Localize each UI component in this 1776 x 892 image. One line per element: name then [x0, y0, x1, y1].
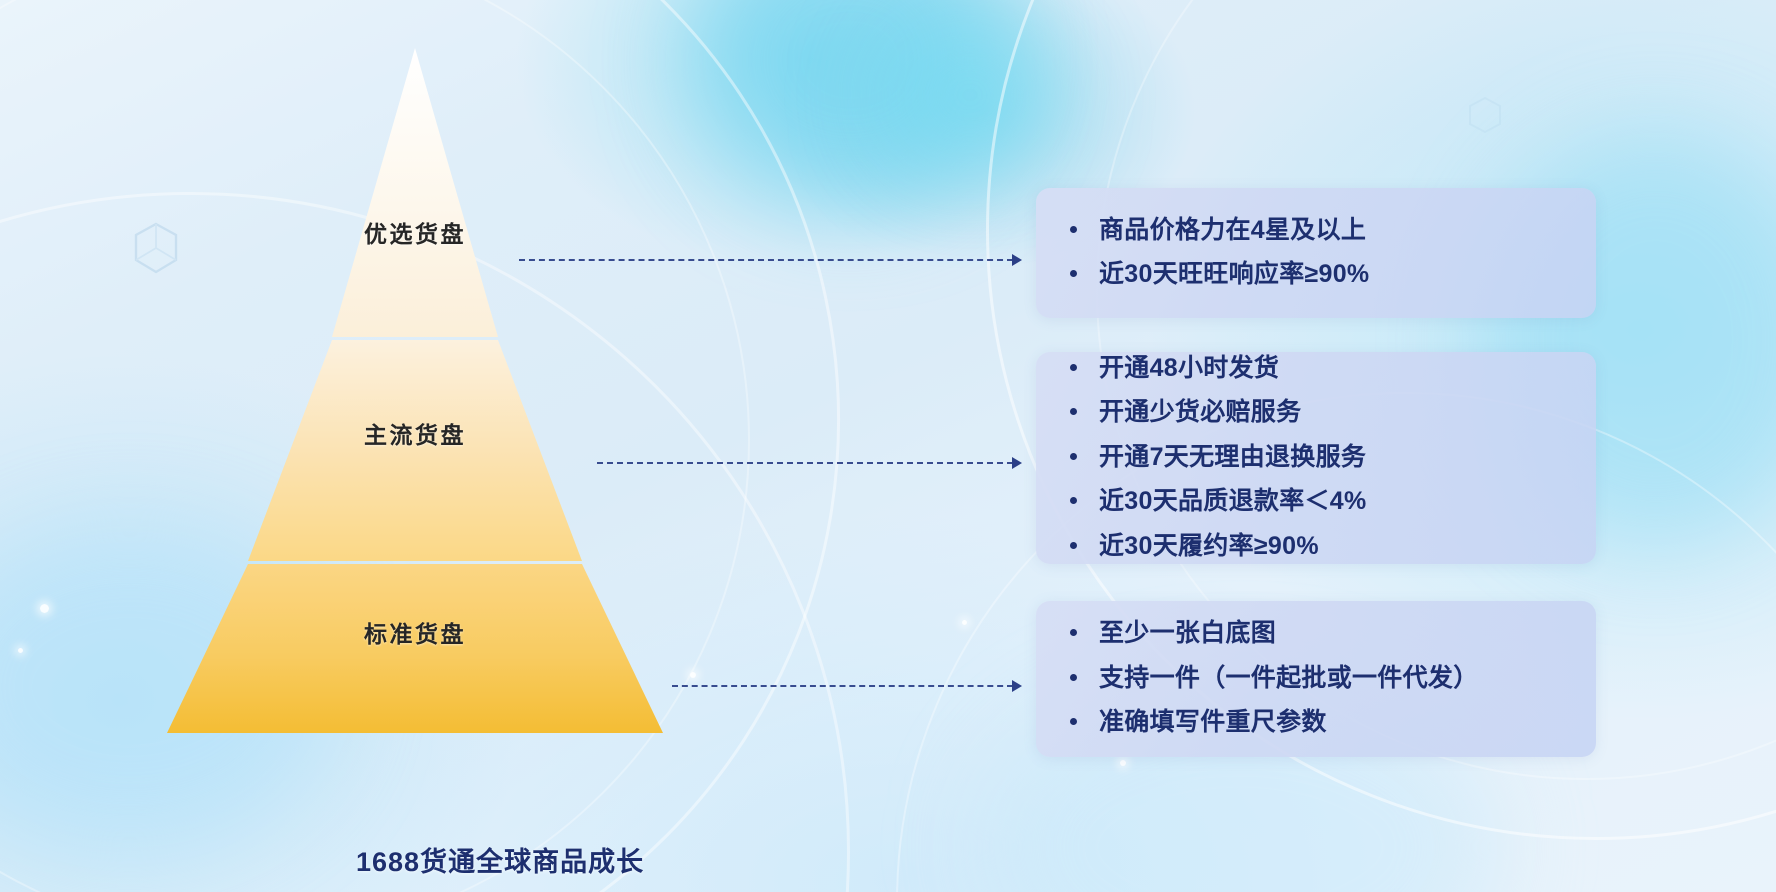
requirement-item: 准确填写件重尺参数	[1066, 705, 1570, 740]
arrow-icon	[1012, 680, 1022, 692]
requirement-text: 至少一张白底图	[1099, 616, 1276, 651]
requirement-item: 开通48小时发货	[1066, 351, 1570, 386]
requirement-text: 准确填写件重尺参数	[1099, 705, 1327, 740]
background-glow	[880, 20, 1060, 170]
bullet-icon	[1070, 629, 1077, 636]
requirement-text: 商品价格力在4星及以上	[1099, 213, 1366, 248]
requirement-item: 近30天品质退款率＜4%	[1066, 484, 1570, 519]
pyramid-tier-1[interactable]	[248, 340, 582, 561]
sparkle-dot	[1120, 760, 1126, 766]
pyramid-tier-label-1: 主流货盘	[364, 416, 466, 450]
bullet-icon	[1070, 408, 1077, 415]
pyramid-tier-label-0: 优选货盘	[364, 215, 466, 249]
requirement-text: 支持一件（一件起批或一件代发）	[1099, 661, 1479, 696]
sparkle-dot	[962, 620, 967, 625]
cube-icon	[1468, 96, 1502, 134]
requirement-text: 近30天品质退款率＜4%	[1099, 484, 1367, 519]
pyramid-shape	[118, 40, 728, 785]
sparkle-dot	[40, 604, 49, 613]
sparkle-dot	[18, 648, 23, 653]
slide-canvas: 优选货盘 主流货盘 标准货盘 1688货通全球商品成长 商品价格力在4星及以上 …	[0, 0, 1776, 892]
requirement-text: 近30天履约率≥90%	[1099, 529, 1319, 564]
requirement-item: 支持一件（一件起批或一件代发）	[1066, 661, 1570, 696]
requirement-item: 近30天履约率≥90%	[1066, 529, 1570, 564]
bullet-icon	[1070, 226, 1077, 233]
bullet-icon	[1070, 270, 1077, 277]
requirement-item: 商品价格力在4星及以上	[1066, 213, 1570, 248]
requirement-item: 近30天旺旺响应率≥90%	[1066, 257, 1570, 292]
requirement-card-2[interactable]: 至少一张白底图 支持一件（一件起批或一件代发） 准确填写件重尺参数	[1036, 601, 1596, 757]
bullet-icon	[1070, 497, 1077, 504]
arrow-icon	[1012, 457, 1022, 469]
requirement-item: 开通7天无理由退换服务	[1066, 440, 1570, 475]
bullet-icon	[1070, 453, 1077, 460]
bullet-icon	[1070, 364, 1077, 371]
pyramid-tier-0[interactable]	[332, 48, 498, 337]
requirement-card-0[interactable]: 商品价格力在4星及以上 近30天旺旺响应率≥90%	[1036, 188, 1596, 318]
requirement-item: 开通少货必赔服务	[1066, 395, 1570, 430]
requirement-text: 开通48小时发货	[1099, 351, 1279, 386]
pyramid-tier-label-2: 标准货盘	[364, 615, 466, 649]
requirement-text: 近30天旺旺响应率≥90%	[1099, 257, 1369, 292]
pyramid-caption: 1688货通全球商品成长	[356, 840, 644, 879]
requirement-card-1[interactable]: 开通48小时发货 开通少货必赔服务 开通7天无理由退换服务 近30天品质退款率＜…	[1036, 352, 1596, 564]
bullet-icon	[1070, 542, 1077, 549]
background-glow	[690, 0, 1010, 210]
bullet-icon	[1070, 718, 1077, 725]
arrow-icon	[1012, 254, 1022, 266]
pyramid-diagram: 优选货盘 主流货盘 标准货盘 1688货通全球商品成长	[118, 40, 728, 785]
bullet-icon	[1070, 674, 1077, 681]
requirement-item: 至少一张白底图	[1066, 616, 1570, 651]
requirement-text: 开通少货必赔服务	[1099, 395, 1301, 430]
requirement-text: 开通7天无理由退换服务	[1099, 440, 1366, 475]
